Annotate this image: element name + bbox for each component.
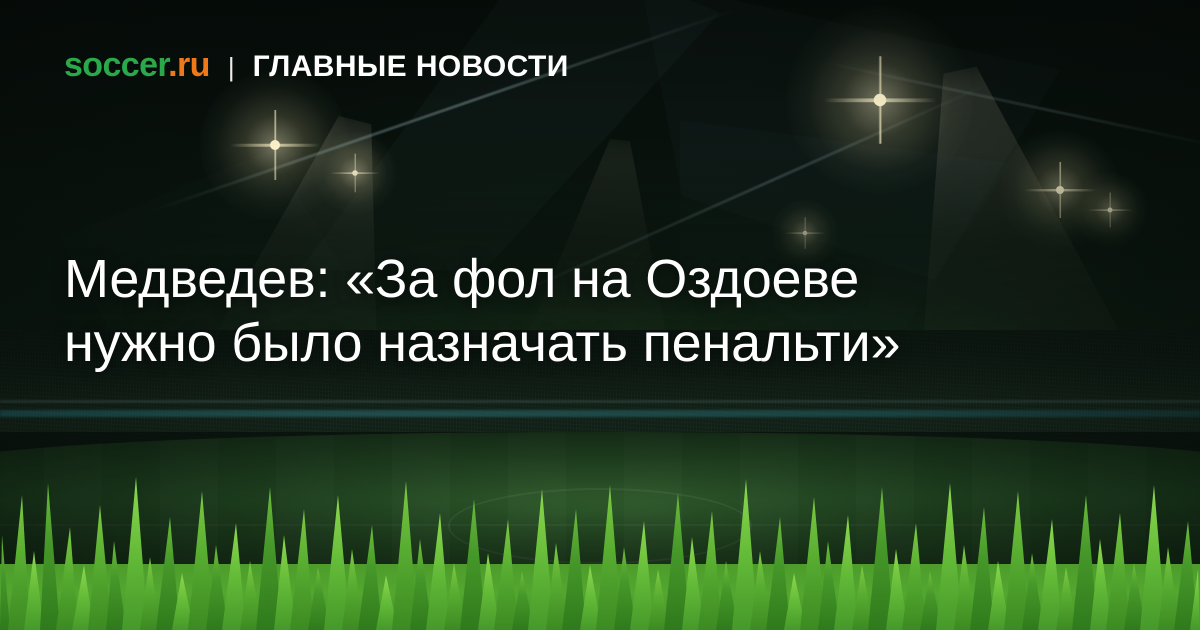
- stand-rail: [0, 400, 1200, 403]
- pitch-barrier: [0, 410, 1200, 417]
- header-separator: |: [226, 54, 237, 80]
- site-logo[interactable]: soccer.ru: [64, 48, 210, 82]
- floodlight-icon: [1056, 186, 1064, 194]
- headline-line-2: нужно было назначать пенальти»: [64, 312, 1074, 376]
- floodlight-icon: [1108, 208, 1113, 213]
- site-header: soccer.ru | ГЛАВНЫЕ НОВОСТИ: [64, 48, 569, 82]
- grass-foreground: [0, 465, 1200, 630]
- article-headline: Медведев: «За фол на Оздоеве нужно было …: [64, 248, 1074, 375]
- floodlight-icon: [270, 140, 280, 150]
- grass-blades-icon: [0, 465, 1200, 630]
- floodlight-icon: [352, 170, 358, 176]
- floodlight-icon: [803, 231, 808, 236]
- headline-line-1: Медведев: «За фол на Оздоеве: [64, 248, 1074, 312]
- logo-suffix-text: .ru: [168, 46, 210, 84]
- logo-primary-text: soccer: [64, 46, 168, 84]
- section-kicker: ГЛАВНЫЕ НОВОСТИ: [253, 52, 569, 82]
- floodlight-icon: [874, 94, 887, 107]
- news-banner: soccer.ru | ГЛАВНЫЕ НОВОСТИ Медведев: «З…: [0, 0, 1200, 630]
